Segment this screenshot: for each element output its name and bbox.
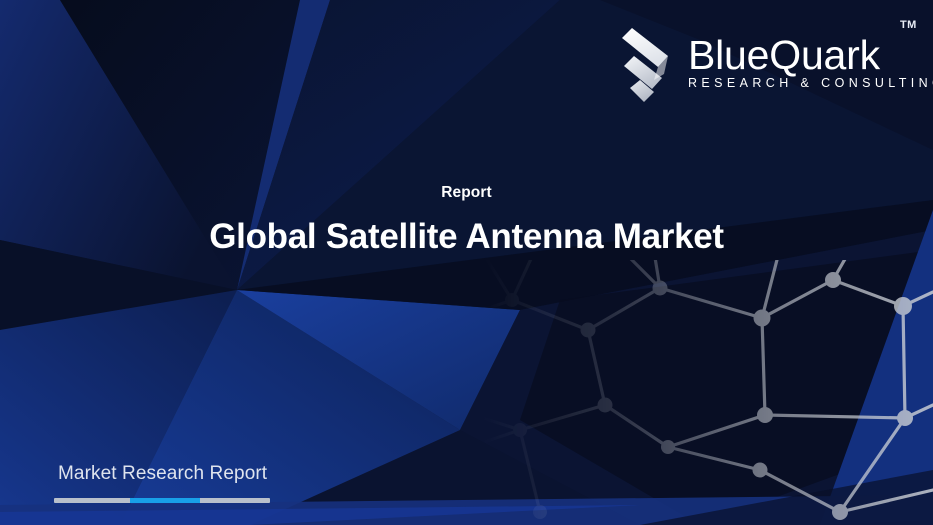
page-title: Global Satellite Antenna Market: [0, 215, 933, 259]
footer-rule-segment-middle: [130, 498, 200, 503]
footer-block: Market Research Report: [58, 462, 388, 503]
bluequark-chevron-logo-icon: [618, 22, 690, 106]
brand-name-quark: Quark: [769, 32, 880, 78]
brand-name-blue: Blue: [688, 32, 769, 78]
report-cover-slide: BlueQuark RESEARCH & CONSULTING TM Repor…: [0, 0, 933, 525]
brand-wordmark: BlueQuark RESEARCH & CONSULTING: [688, 32, 923, 91]
report-kicker-label: Report: [0, 183, 933, 203]
brand-name: BlueQuark: [688, 32, 923, 78]
brand-tagline: RESEARCH & CONSULTING: [688, 76, 923, 91]
title-area: Report Global Satellite Antenna Market: [0, 183, 933, 282]
footer-rule-segment-left: [54, 498, 130, 503]
brand-logo-block: BlueQuark RESEARCH & CONSULTING TM: [618, 10, 923, 110]
footer-accent-rule: [54, 498, 270, 503]
trademark-symbol: TM: [900, 19, 917, 31]
footer-rule-segment-right: [200, 498, 270, 503]
footer-label: Market Research Report: [58, 462, 388, 486]
